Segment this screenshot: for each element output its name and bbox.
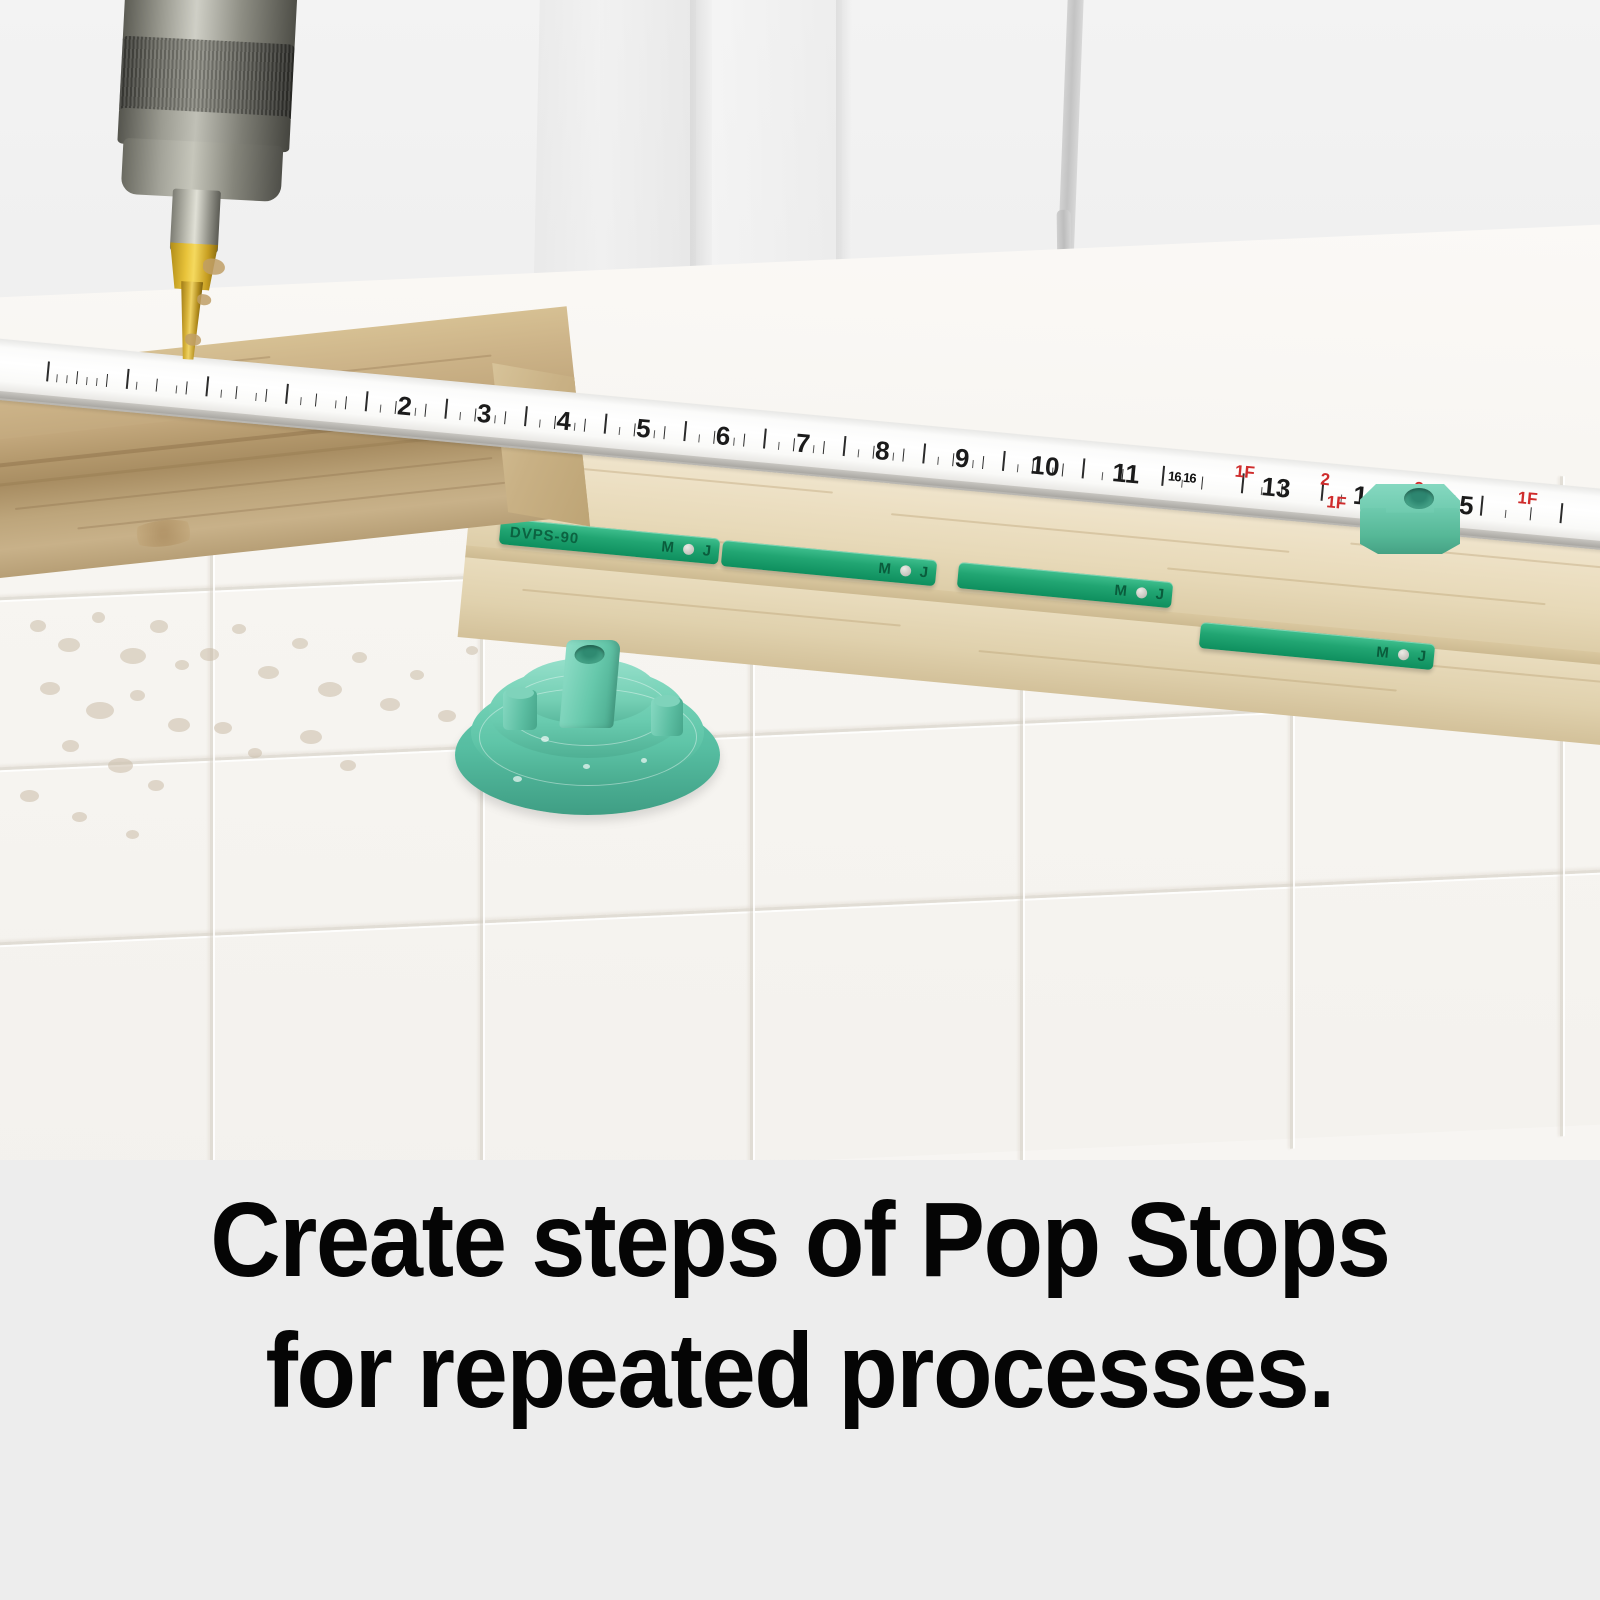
strip-mark-j: J: [1417, 647, 1427, 665]
tape-inch-number: 9: [954, 444, 971, 471]
caption-line-1: Create steps of Pop Stops: [210, 1175, 1389, 1306]
tape-foot-mark: 2: [1320, 471, 1331, 489]
caption-line-2: for repeated processes.: [266, 1306, 1335, 1437]
tape-foot-mark: 1F: [1234, 463, 1255, 482]
strip-mark-m: M: [878, 559, 892, 577]
pop-stop-cube-hole: [1404, 488, 1434, 509]
tape-inch-number: 3: [476, 400, 493, 427]
strip-rivet: [1397, 648, 1409, 660]
caption-block: Create steps of Pop Stops for repeated p…: [0, 1175, 1600, 1555]
pop-stop-cube[interactable]: [1358, 484, 1466, 556]
strip-mark-j: J: [702, 542, 712, 560]
tape-inch-number: 8: [874, 437, 891, 464]
drill-chuck: [110, 0, 297, 286]
tape-inch-number: 2: [396, 392, 413, 419]
pop-stop-post-main: [559, 640, 621, 728]
strip-rivet: [1135, 586, 1147, 598]
product-photo: DVPS-90 M J M J M: [0, 0, 1600, 1160]
strip-rivet: [899, 564, 911, 576]
tape-foot-mark: 1F: [1517, 489, 1538, 508]
tape-foot-mark: 1F: [1326, 493, 1347, 512]
tape-inch-number: 6: [715, 422, 732, 449]
tape-inch-number: 11: [1111, 459, 1141, 487]
strip-rivet: [682, 543, 694, 555]
tape-inch-number: 10: [1029, 452, 1060, 481]
pop-stop-post-small: [651, 698, 683, 736]
pop-stop-stepped-disc[interactable]: [455, 640, 720, 815]
pop-stop-post-hole: [574, 645, 606, 664]
strip-mark-j: J: [919, 563, 929, 581]
strip-mark-j: J: [1155, 585, 1165, 603]
strip-mark-m: M: [1376, 643, 1390, 661]
tape-inch-number: 7: [794, 430, 811, 457]
tape-inch-number: 5: [635, 415, 652, 442]
pop-stop-post-small: [503, 690, 537, 730]
page-root: DVPS-90 M J M J M: [0, 0, 1600, 1600]
strip-mark-m: M: [1114, 581, 1128, 599]
strip-mark-m: M: [661, 538, 675, 556]
tape-inch-number: 4: [556, 407, 573, 434]
tape-stud-mark: 16 16: [1167, 468, 1196, 486]
tape-inch-number: 13: [1260, 473, 1291, 502]
